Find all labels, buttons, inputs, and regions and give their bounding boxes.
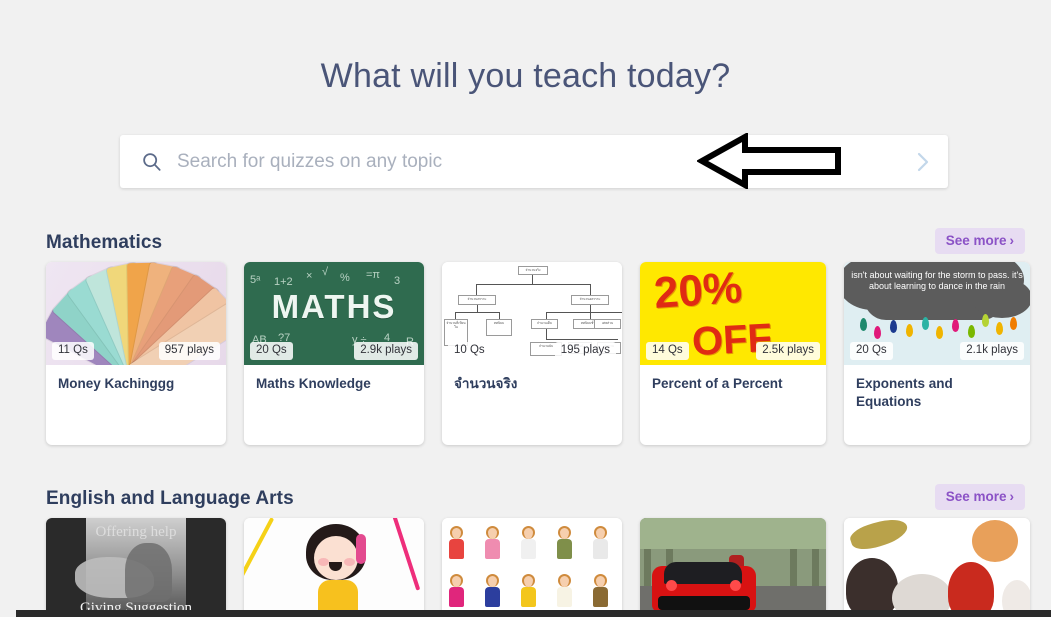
search-input[interactable] — [177, 151, 898, 173]
card-thumbnail — [442, 518, 622, 617]
card-badges: 11 Qs 957 plays — [46, 342, 226, 360]
card-row-mathematics: 11 Qs 957 plays Money Kachinggg 5ᵃ 1+2 ×… — [0, 262, 1051, 445]
card-body: Exponents and Equations — [844, 365, 1030, 445]
tree-node: ทศนิยม — [486, 319, 512, 336]
quiz-card[interactable]: 20% OFF 14 Qs 2.5k plays Percent of a Pe… — [640, 262, 826, 445]
card-badges: 10 Qs 195 plays — [442, 342, 622, 360]
quiz-discovery-page: What will you teach today? Mathematics S… — [0, 0, 1051, 617]
section-title: English and Language Arts — [46, 488, 294, 510]
percent-headline: 20% — [652, 263, 743, 319]
quiz-card[interactable]: จำนวนจริง จำนวนตรรกะ จำนวนอตรรกะ จำนวนที… — [442, 262, 622, 445]
tree-node: เศษส่วน — [594, 319, 621, 329]
chevron-right-icon: › — [1010, 233, 1015, 248]
card-title: Maths Knowledge — [244, 365, 424, 393]
search-icon — [141, 151, 163, 173]
card-title: Percent of a Percent — [640, 365, 826, 393]
quiz-card[interactable] — [244, 518, 424, 617]
card-body: จำนวนจริง — [442, 365, 622, 445]
questions-badge: 20 Qs — [250, 342, 293, 360]
quiz-card[interactable]: isn't about waiting for the storm to pas… — [844, 262, 1030, 445]
page-title: What will you teach today? — [0, 57, 1051, 96]
card-thumbnail — [244, 518, 424, 617]
quiz-card[interactable]: Offering help Giving Suggestion — [46, 518, 226, 617]
quiz-card[interactable] — [844, 518, 1030, 617]
card-thumbnail: Offering help Giving Suggestion — [46, 518, 226, 617]
cloud-quote-text: isn't about waiting for the storm to pas… — [850, 270, 1024, 292]
plays-badge: 195 plays — [555, 342, 616, 360]
chevron-right-icon: › — [1010, 489, 1015, 504]
card-thumbnail — [640, 518, 826, 617]
plays-badge: 2.9k plays — [354, 342, 418, 360]
card-title: Exponents and Equations — [844, 365, 1030, 411]
card-badges: 20 Qs 2.9k plays — [244, 342, 424, 360]
card-thumbnail: 11 Qs 957 plays — [46, 262, 226, 365]
questions-badge: 14 Qs — [646, 342, 689, 360]
card-badges: 20 Qs 2.1k plays — [844, 342, 1030, 360]
card-thumbnail: 5ᵃ 1+2 × % =π 3 AB ?7 y ÷ 4 R √ MATHS 20… — [244, 262, 424, 365]
quiz-card[interactable]: 5ᵃ 1+2 × % =π 3 AB ?7 y ÷ 4 R √ MATHS 20… — [244, 262, 424, 445]
section-header: English and Language Arts See more› — [0, 484, 1051, 514]
see-more-label: See more — [946, 233, 1007, 248]
maths-word-art: MATHS — [244, 288, 424, 326]
section-mathematics: Mathematics See more› — [0, 228, 1051, 445]
section-title: Mathematics — [46, 232, 162, 254]
questions-badge: 10 Qs — [448, 342, 491, 360]
search-submit-button[interactable] — [898, 149, 948, 175]
card-body: Maths Knowledge — [244, 365, 424, 445]
quiz-card[interactable]: 11 Qs 957 plays Money Kachinggg — [46, 262, 226, 445]
card-thumbnail: isn't about waiting for the storm to pas… — [844, 262, 1030, 365]
browser-bottom-edge — [0, 610, 1051, 617]
tree-node: จำนวนจริง — [518, 266, 548, 275]
card-thumbnail — [844, 518, 1030, 617]
thumb-overlay-top: Offering help — [46, 524, 226, 541]
see-more-label: See more — [946, 489, 1007, 504]
card-badges: 14 Qs 2.5k plays — [640, 342, 826, 360]
card-thumbnail: 20% OFF 14 Qs 2.5k plays — [640, 262, 826, 365]
quiz-card[interactable] — [640, 518, 826, 617]
card-body: Percent of a Percent — [640, 365, 826, 445]
chevron-right-icon — [915, 149, 931, 175]
browser-bottom-edge-gap — [0, 610, 16, 617]
questions-badge: 20 Qs — [850, 342, 893, 360]
see-more-button-english[interactable]: See more› — [935, 484, 1025, 510]
quiz-card[interactable] — [442, 518, 622, 617]
card-title: Money Kachinggg — [46, 365, 226, 393]
tree-node: จำนวนตรรกะ — [458, 295, 496, 305]
plays-badge: 2.1k plays — [960, 342, 1024, 360]
section-header: Mathematics See more› — [0, 228, 1051, 258]
plays-badge: 957 plays — [159, 342, 220, 360]
section-english-and-language-arts: English and Language Arts See more› Offe… — [0, 484, 1051, 617]
search-bar[interactable] — [120, 135, 948, 188]
card-thumbnail: จำนวนจริง จำนวนตรรกะ จำนวนอตรรกะ จำนวนที… — [442, 262, 622, 365]
tree-node: จำนวนเต็ม — [531, 319, 558, 329]
tree-node: จำนวนอตรรกะ — [571, 295, 609, 305]
card-body: Money Kachinggg — [46, 365, 226, 445]
card-row-english: Offering help Giving Suggestion — [0, 518, 1051, 617]
questions-badge: 11 Qs — [52, 342, 94, 360]
plays-badge: 2.5k plays — [756, 342, 820, 360]
see-more-button-mathematics[interactable]: See more› — [935, 228, 1025, 254]
card-title: จำนวนจริง — [442, 365, 622, 393]
